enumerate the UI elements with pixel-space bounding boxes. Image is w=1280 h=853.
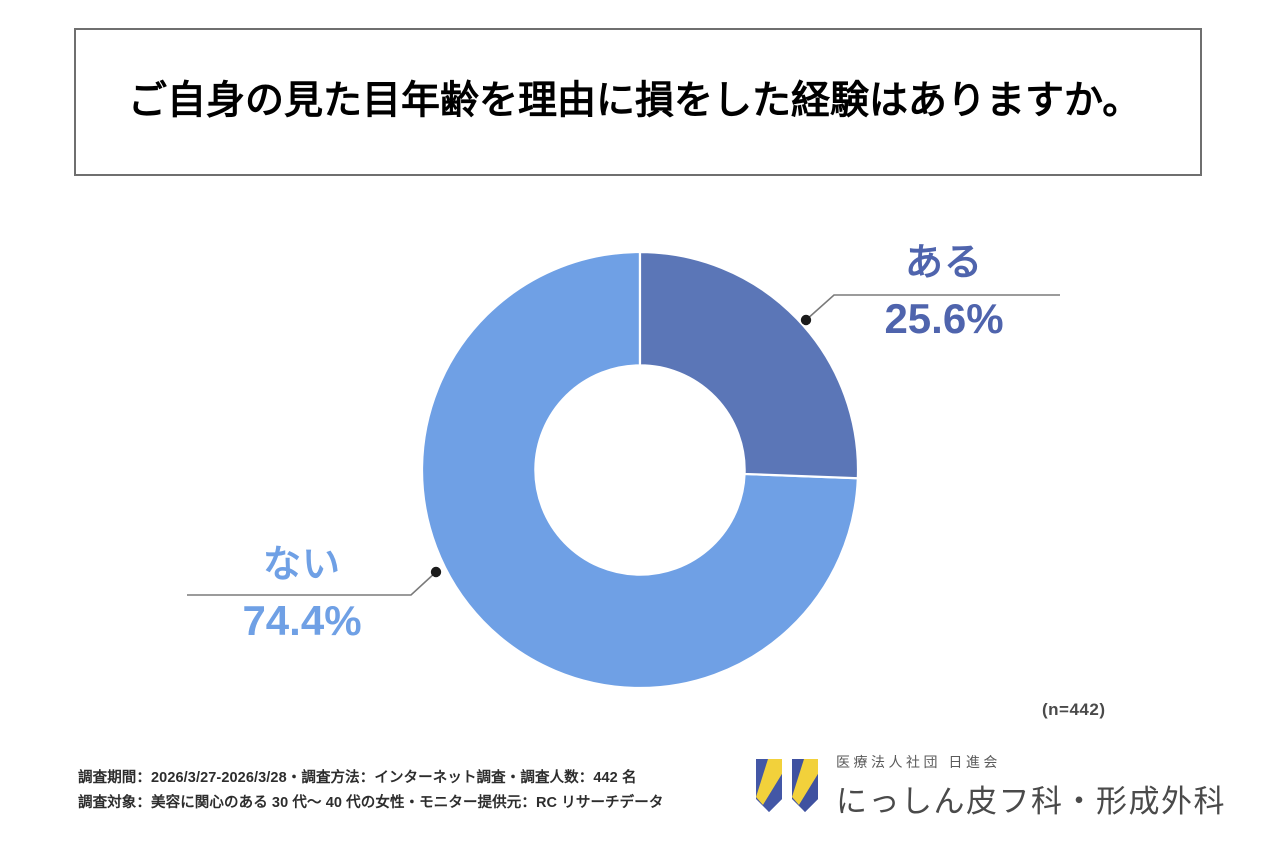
leader-line-nai [187, 572, 436, 595]
clinic-name: にっしん皮フ科・形成外科 [836, 776, 1226, 821]
survey-note-line-2: 調査対象：美容に関心のある 30 代〜 40 代の女性・モニター提供元：RC リ… [78, 791, 663, 816]
sample-size-note: (n=442) [1042, 700, 1106, 720]
donut-slice-aru[interactable] [640, 252, 858, 478]
callout-aru-label: ある [828, 244, 1060, 282]
clinic-logo[interactable]: 医療法人社団 日進会 にっしん皮フ科・形成外科 [752, 752, 1226, 820]
survey-notes: 調査期間：2026/3/27-2026/3/28・調査方法：インターネット調査・… [78, 766, 663, 817]
clinic-logo-mark-icon [752, 755, 822, 817]
callout-aru-value: 25.6% [828, 298, 1060, 340]
survey-note-line-1: 調査期間：2026/3/27-2026/3/28・調査方法：インターネット調査・… [78, 766, 663, 791]
leader-dot-aru [801, 315, 811, 325]
title-box: ご自身の見た目年齢を理由に損をした経験はありますか。 [74, 28, 1202, 176]
clinic-logo-text: 医療法人社団 日進会 にっしん皮フ科・形成外科 [836, 752, 1226, 821]
page-title: ご自身の見た目年齢を理由に損をした経験はありますか。 [128, 81, 1141, 124]
leader-dot-nai [431, 567, 441, 577]
callout-nai-value: 74.4% [186, 600, 418, 642]
leader-line-aru [806, 295, 1060, 320]
donut-chart [400, 230, 880, 710]
callout-aru: ある 25.6% [828, 244, 1060, 340]
callout-nai-label: ない [186, 546, 418, 584]
clinic-org-name: 医療法人社団 日進会 [836, 752, 1226, 772]
donut-slice-nai[interactable] [422, 252, 858, 688]
callout-nai: ない 74.4% [186, 546, 418, 642]
